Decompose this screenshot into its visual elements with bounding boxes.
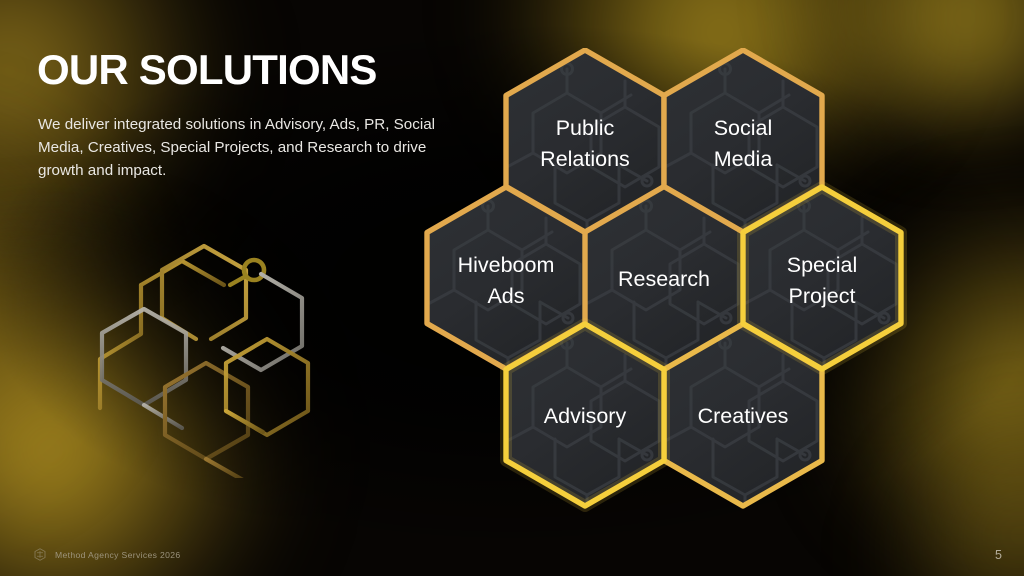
hex-cell-advisory[interactable]: Advisory	[506, 324, 664, 511]
hex-label: Advisory	[544, 404, 627, 428]
hex-label: Ads	[487, 284, 524, 308]
hex-label: Creatives	[698, 404, 789, 428]
footer-text: Method Agency Services 2026	[55, 550, 181, 560]
hex-label: Media	[714, 147, 773, 171]
footer: Method Agency Services 2026	[34, 548, 181, 561]
hex-label: Project	[789, 284, 856, 308]
hex-label: Hiveboom	[458, 253, 555, 277]
hexagon-mark-icon	[34, 548, 46, 561]
hex-label: Special	[787, 253, 858, 277]
page-number: 5	[995, 548, 1002, 562]
slide-canvas: OUR SOLUTIONS We deliver integrated solu…	[0, 0, 1024, 576]
page-title: OUR SOLUTIONS	[37, 48, 377, 92]
page-subtitle: We deliver integrated solutions in Advis…	[38, 113, 458, 182]
overlapping-hexagons-decoration-icon	[78, 222, 328, 478]
hex-label: Social	[714, 116, 773, 140]
hex-label: Research	[618, 267, 710, 291]
hex-label: Public	[556, 116, 615, 140]
solutions-honeycomb: ResearchPublicRelationsSocialMediaHivebo…	[410, 48, 920, 538]
hex-label: Relations	[540, 147, 630, 171]
